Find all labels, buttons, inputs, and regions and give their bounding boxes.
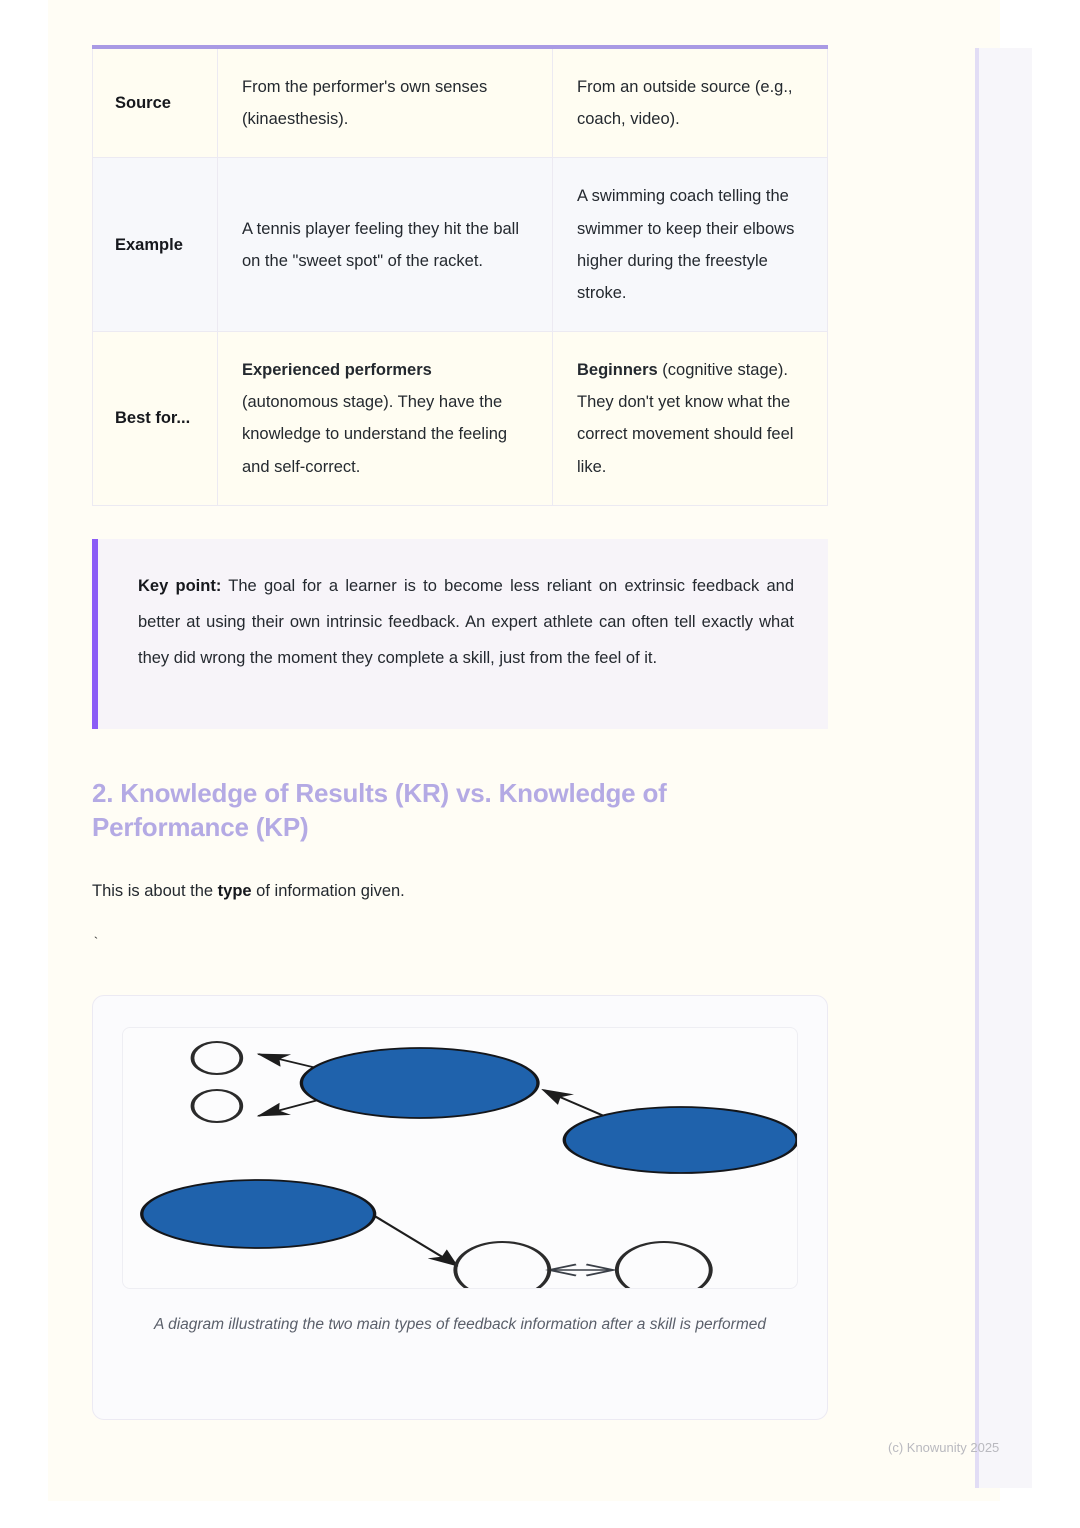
footer-copyright: (c) Knowunity 2025 bbox=[888, 1440, 999, 1455]
edge-leftlower-to-bottommid bbox=[375, 1216, 458, 1266]
cell-bestfor-extrinsic: Beginners (cognitive stage). They don't … bbox=[553, 332, 828, 506]
section-heading-kr-vs-kp: 2. Knowledge of Results (KR) vs. Knowled… bbox=[92, 776, 828, 845]
stray-backtick: ` bbox=[92, 935, 828, 955]
document-content: Source From the performer's own senses (… bbox=[92, 0, 828, 1420]
key-point-text: The goal for a learner is to become less… bbox=[138, 577, 794, 667]
key-point-callout: Key point: The goal for a learner is to … bbox=[92, 539, 828, 729]
table-row: Source From the performer's own senses (… bbox=[93, 47, 828, 158]
cell-example-intrinsic: A tennis player feeling they hit the bal… bbox=[218, 158, 553, 332]
bestfor-intrinsic-rest: (autonomous stage). They have the knowle… bbox=[242, 393, 507, 475]
feedback-comparison-table: Source From the performer's own senses (… bbox=[92, 45, 828, 506]
bestfor-intrinsic-strong: Experienced performers bbox=[242, 361, 432, 379]
row-label-example: Example bbox=[93, 158, 218, 332]
lead-after: of information given. bbox=[252, 882, 405, 900]
node-circle-bottom-right bbox=[617, 1242, 711, 1289]
node-small-circle-second bbox=[192, 1090, 241, 1122]
feedback-node-link-diagram bbox=[123, 1028, 798, 1289]
cell-source-intrinsic: From the performer's own senses (kinaest… bbox=[218, 47, 553, 158]
lead-before: This is about the bbox=[92, 882, 218, 900]
figure-card: A diagram illustrating the two main type… bbox=[92, 995, 828, 1420]
row-label-best-for: Best for... bbox=[93, 332, 218, 506]
cell-source-extrinsic: From an outside source (e.g., coach, vid… bbox=[553, 47, 828, 158]
cell-bestfor-intrinsic: Experienced performers (autonomous stage… bbox=[218, 332, 553, 506]
table-row: Example A tennis player feeling they hit… bbox=[93, 158, 828, 332]
cell-example-extrinsic: A swimming coach telling the swimmer to … bbox=[553, 158, 828, 332]
row-label-source: Source bbox=[93, 47, 218, 158]
bestfor-extrinsic-strong: Beginners bbox=[577, 361, 658, 379]
node-ellipse-left-lower bbox=[142, 1180, 375, 1248]
node-ellipse-center-top bbox=[301, 1048, 538, 1118]
figure-caption: A diagram illustrating the two main type… bbox=[115, 1311, 805, 1340]
lead-strong: type bbox=[218, 882, 252, 900]
table-row: Best for... Experienced performers (auto… bbox=[93, 332, 828, 506]
section-lead-paragraph: This is about the type of information gi… bbox=[92, 877, 828, 905]
figure-image-frame bbox=[122, 1027, 798, 1289]
node-small-circle-top bbox=[192, 1042, 241, 1074]
right-side-panel bbox=[975, 48, 1032, 1488]
node-circle-bottom-mid bbox=[455, 1242, 549, 1289]
node-ellipse-right bbox=[564, 1107, 797, 1173]
key-point-label: Key point: bbox=[138, 577, 221, 595]
